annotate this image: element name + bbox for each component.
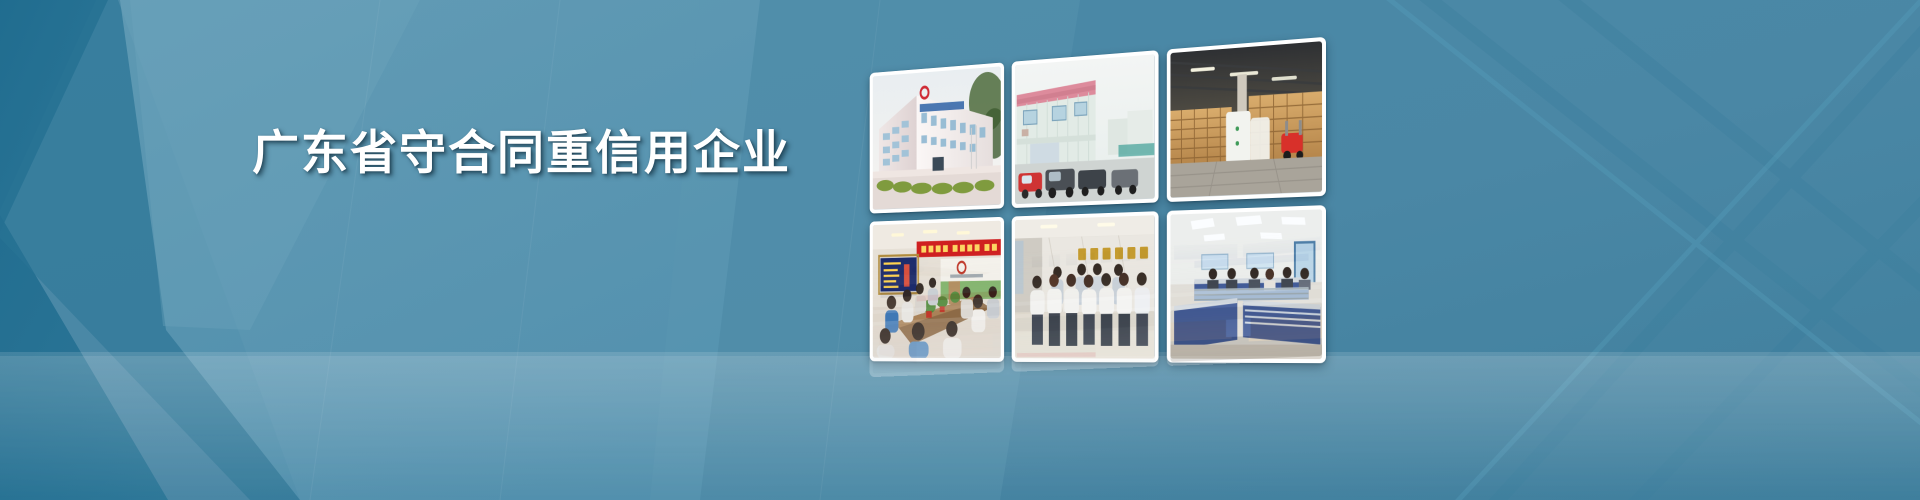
photo-factory-warehouse-exterior-image <box>1015 54 1154 203</box>
photo-raw-material-warehouse-image <box>1170 41 1322 197</box>
photo-collage <box>870 37 1326 363</box>
page-title: 广东省守合同重信用企业 <box>252 124 791 184</box>
promo-banner: 广东省守合同重信用企业 <box>0 0 1920 500</box>
photo-factory-warehouse-exterior[interactable] <box>1012 50 1158 207</box>
photo-office-building[interactable] <box>870 62 1005 213</box>
photo-team-group[interactable] <box>1012 211 1158 363</box>
photo-raw-material-warehouse[interactable] <box>1166 37 1325 202</box>
photo-team-group-image <box>1015 215 1154 359</box>
photo-open-office[interactable] <box>1166 205 1325 364</box>
photo-office-building-image <box>873 66 1001 209</box>
photo-grid <box>870 37 1326 363</box>
photo-open-office-image <box>1170 209 1322 359</box>
photo-conference-meeting-image <box>873 220 1001 358</box>
photo-conference-meeting[interactable] <box>870 216 1005 362</box>
